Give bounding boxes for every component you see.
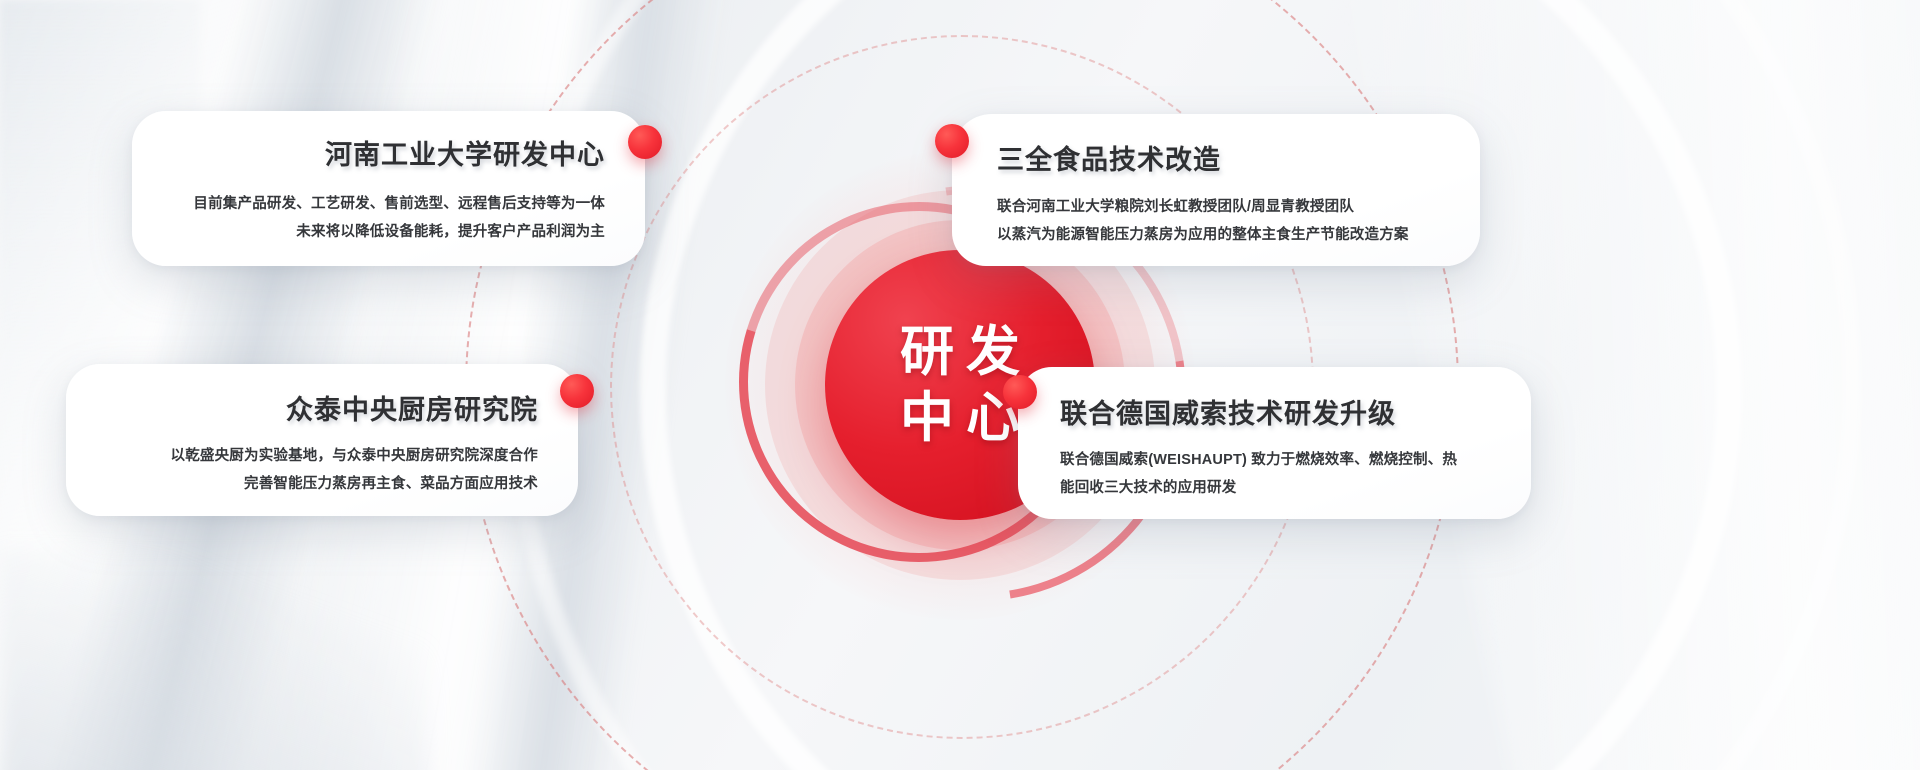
card-body: 目前集产品研发、工艺研发、售前选型、远程售后支持等为一体 未来将以降低设备能耗，… xyxy=(132,190,605,247)
card-bottom-right[interactable]: 联合德国威索技术研发升级 联合德国威索(WEISHAUPT) 致力于燃烧效率、燃… xyxy=(1018,367,1531,519)
card-line: 以蒸汽为能源智能压力蒸房为应用的整体主食生产节能改造方案 xyxy=(997,222,1480,250)
card-body: 联合德国威索(WEISHAUPT) 致力于燃烧效率、燃烧控制、热 能回收三大技术… xyxy=(1060,447,1531,503)
card-body: 以乾盛央厨为实验基地，与众泰中央厨房研究院深度合作 完善智能压力蒸房再主食、菜品… xyxy=(66,443,538,499)
card-bottom-left[interactable]: 众泰中央厨房研究院 以乾盛央厨为实验基地，与众泰中央厨房研究院深度合作 完善智能… xyxy=(66,364,578,516)
card-line: 完善智能压力蒸房再主食、菜品方面应用技术 xyxy=(66,471,538,499)
card-line: 能回收三大技术的应用研发 xyxy=(1060,475,1531,503)
card-marker-dot-icon xyxy=(560,374,594,408)
background-streak-bottom-left xyxy=(0,550,430,770)
card-marker-dot-icon xyxy=(1003,375,1037,409)
card-title: 河南工业大学研发中心 xyxy=(132,133,605,172)
card-line: 未来将以降低设备能耗，提升客户产品利润为主 xyxy=(132,218,605,246)
card-line: 联合河南工业大学粮院刘长虹教授团队/周显青教授团队 xyxy=(997,194,1480,222)
card-line: 目前集产品研发、工艺研发、售前选型、远程售后支持等为一体 xyxy=(132,190,605,218)
center-title-line-1: 研发 xyxy=(888,322,1032,382)
rnd-center-infographic: 研发 中心 河南工业大学研发中心 目前集产品研发、工艺研发、售前选型、远程售后支… xyxy=(0,0,1920,770)
card-title: 众泰中央厨房研究院 xyxy=(66,388,538,427)
card-line: 以乾盛央厨为实验基地，与众泰中央厨房研究院深度合作 xyxy=(66,443,538,471)
card-body: 联合河南工业大学粮院刘长虹教授团队/周显青教授团队 以蒸汽为能源智能压力蒸房为应… xyxy=(997,194,1480,250)
card-marker-dot-icon xyxy=(935,124,969,158)
card-top-right[interactable]: 三全食品技术改造 联合河南工业大学粮院刘长虹教授团队/周显青教授团队 以蒸汽为能… xyxy=(952,114,1480,266)
card-title: 三全食品技术改造 xyxy=(997,138,1480,177)
card-top-left[interactable]: 河南工业大学研发中心 目前集产品研发、工艺研发、售前选型、远程售后支持等为一体 … xyxy=(132,111,645,266)
card-marker-dot-icon xyxy=(628,125,662,159)
card-title: 联合德国威索技术研发升级 xyxy=(1060,392,1531,431)
card-line: 联合德国威索(WEISHAUPT) 致力于燃烧效率、燃烧控制、热 xyxy=(1060,447,1531,475)
